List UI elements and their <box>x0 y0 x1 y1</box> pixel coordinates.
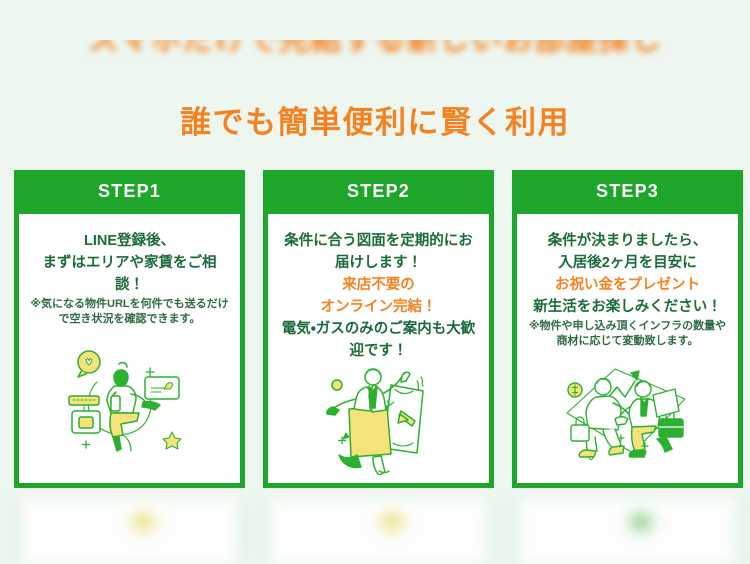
step-body-2: 条件に合う図面を定期的にお届けします！ 来店不要の オンライン完結！ 電気・ガス… <box>268 214 489 363</box>
next-card-illustration-blob <box>369 502 415 542</box>
step-text-3: 条件が決まりましたら、 入居後2ヶ月を目安に お祝い金をプレゼント 新生活をお楽… <box>527 230 728 318</box>
next-card-placeholder <box>512 500 743 564</box>
step-header-1: STEP1 <box>14 170 245 214</box>
step-line: 入居後2ヶ月を目安に <box>527 252 728 274</box>
next-section-preview <box>14 500 744 564</box>
step-line: LINE登録後、 <box>29 230 230 252</box>
step-body-3: 条件が決まりましたら、 入居後2ヶ月を目安に お祝い金をプレゼント 新生活をお楽… <box>517 214 738 349</box>
step-note-3: ※物件や申し込み頂くインフラの数量や商材に応じて変動致します。 <box>527 319 728 349</box>
next-card-illustration-blob <box>120 502 166 542</box>
step-body-1: LINE登録後、 まずはエリアや家賃をご相談！ ※気になる物件URLを何件でも送… <box>19 214 240 327</box>
step-line: 電気・ガスのみのご案内も大歓迎です！ <box>278 318 479 362</box>
step-line-accent: オンライン完結！ <box>278 296 479 318</box>
step-header-3: STEP3 <box>512 170 743 214</box>
next-card-illustration-blob <box>618 502 664 542</box>
top-teaser-text: スマホだけで完結する新しいお部屋探し <box>0 40 750 59</box>
top-teaser-band: スマホだけで完結する新しいお部屋探し <box>0 40 750 72</box>
step-card-1[interactable]: STEP1 LINE登録後、 まずはエリアや家賃をご相談！ ※気になる物件URL… <box>14 170 245 488</box>
step-line: まずはエリアや家賃をご相談！ <box>29 252 230 296</box>
step-note-1: ※気になる物件URLを何件でも送るだけで空き状況を確認できます。 <box>29 297 230 327</box>
step-line: 条件が決まりましたら、 <box>527 230 728 252</box>
step-card-3[interactable]: STEP3 条件が決まりましたら、 入居後2ヶ月を目安に お祝い金をプレゼント … <box>512 170 743 488</box>
page-title: 誰でも簡単便利に賢く利用 <box>0 103 750 143</box>
step-line: 条件に合う図面を定期的にお届けします！ <box>278 230 479 274</box>
steps-row: STEP1 LINE登録後、 まずはエリアや家賃をご相談！ ※気になる物件URL… <box>14 170 744 488</box>
step-header-2: STEP2 <box>263 170 494 214</box>
person-with-smartphone-illustration <box>19 327 240 483</box>
step-line-accent: 来店不要の <box>278 274 479 296</box>
next-card-placeholder <box>263 500 494 564</box>
step-card-2[interactable]: STEP2 条件に合う図面を定期的にお届けします！ 来店不要の オンライン完結！… <box>263 170 494 488</box>
person-holding-floorplan-illustration <box>268 363 489 483</box>
step-line: 新生活をお楽しみください！ <box>527 296 728 318</box>
step-text-2: 条件に合う図面を定期的にお届けします！ 来店不要の オンライン完結！ 電気・ガス… <box>278 230 479 362</box>
step-line-accent: お祝い金をプレゼント <box>527 274 728 296</box>
next-card-placeholder <box>14 500 245 564</box>
step-text-1: LINE登録後、 まずはエリアや家賃をご相談！ <box>29 230 230 296</box>
two-people-handshake-money-illustration <box>517 349 738 483</box>
